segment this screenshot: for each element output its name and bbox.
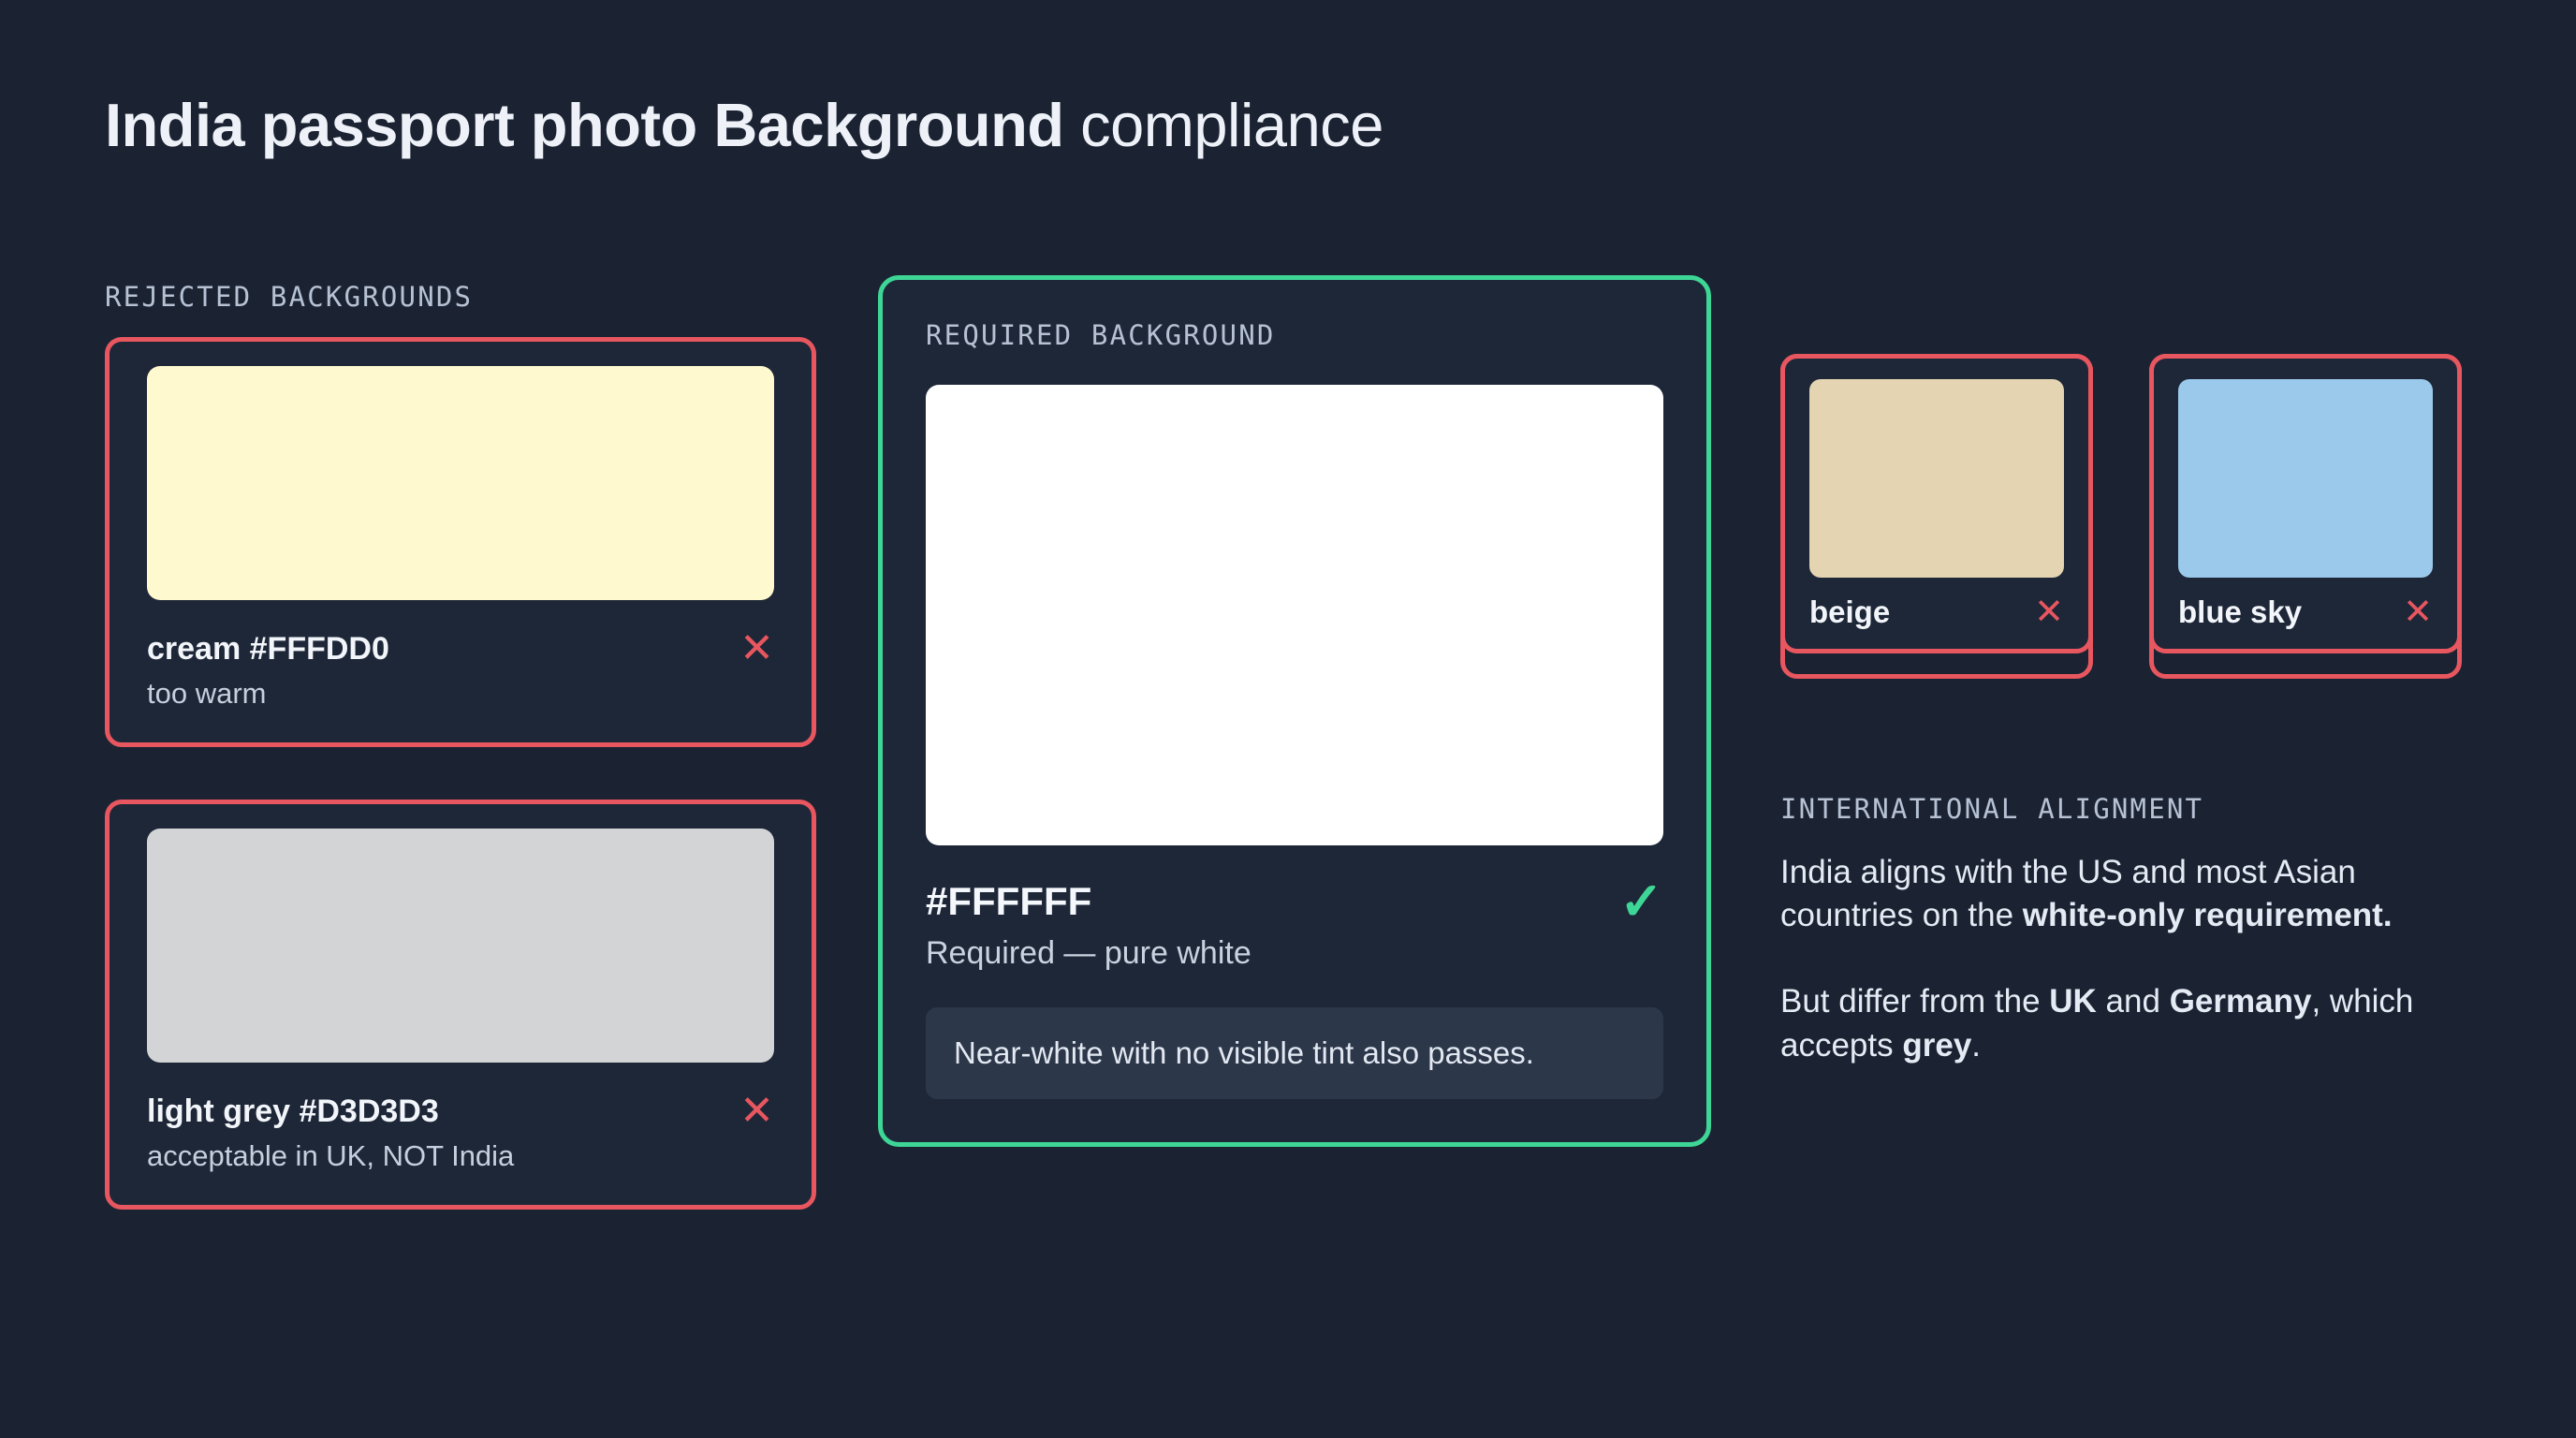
- required-subtitle: Required — pure white: [926, 935, 1663, 972]
- rejected-card-light-grey-name: light grey #D3D3D3: [147, 1093, 439, 1130]
- international-alignment-heading: INTERNATIONAL ALIGNMENT: [1780, 793, 2492, 825]
- page-title: India passport photo Background complian…: [105, 90, 1383, 160]
- rejected-card-cream-row: cream #FFFDD0 ✕: [147, 628, 774, 669]
- intl-p2-mid1: and: [2097, 983, 2170, 1020]
- color-swatch-white: [926, 385, 1663, 845]
- page-title-light: compliance: [1064, 91, 1383, 159]
- intl-p2-tail: .: [1971, 1027, 1981, 1064]
- color-swatch-blue-sky: [2178, 379, 2433, 578]
- check-icon: ✓: [1619, 875, 1663, 928]
- rejected-card-light-grey-row: light grey #D3D3D3 ✕: [147, 1091, 774, 1132]
- cross-icon: ✕: [739, 628, 774, 669]
- required-background-row: #FFFFFF ✓: [926, 875, 1663, 928]
- color-swatch-light-grey: [147, 829, 774, 1063]
- international-paragraph-2: But differ from the UK and Germany, whic…: [1780, 980, 2436, 1066]
- intl-p2-bold-grey: grey: [1902, 1027, 1971, 1064]
- cross-icon: ✕: [2034, 594, 2064, 630]
- color-swatch-cream: [147, 366, 774, 600]
- required-background-card[interactable]: REQUIRED BACKGROUND #FFFFFF ✓ Required —…: [878, 275, 1711, 1147]
- mini-rejected-card-beige[interactable]: beige ✕: [1780, 354, 2093, 653]
- rejected-backgrounds-heading: REJECTED BACKGROUNDS: [105, 281, 816, 313]
- mini-rejected-wrapper-beige: beige ✕: [1780, 354, 2093, 679]
- mini-rejected-card-blue-sky-row: blue sky ✕: [2178, 594, 2433, 630]
- right-column: beige ✕ blue sky ✕ INTERNATIONAL ALIGNME…: [1780, 354, 2492, 1067]
- rejected-card-cream[interactable]: cream #FFFDD0 ✕ too warm: [105, 337, 816, 747]
- intl-p2-bold-germany: Germany: [2170, 983, 2312, 1020]
- mini-rejected-card-blue-sky-name: blue sky: [2178, 594, 2302, 630]
- mini-rejected-row: beige ✕ blue sky ✕: [1780, 354, 2492, 679]
- cross-icon: ✕: [2403, 594, 2433, 630]
- intl-p1-bold: white-only requirement.: [2023, 897, 2393, 933]
- required-note-box: Near-white with no visible tint also pas…: [926, 1007, 1663, 1099]
- rejected-card-cream-note: too warm: [147, 677, 774, 711]
- mini-rejected-card-beige-name: beige: [1809, 594, 1890, 630]
- intl-p2-lead: But differ from the: [1780, 983, 2049, 1020]
- required-hex-value: #FFFFFF: [926, 879, 1091, 924]
- mini-rejected-card-blue-sky[interactable]: blue sky ✕: [2149, 354, 2462, 653]
- international-alignment-block: INTERNATIONAL ALIGNMENT India aligns wit…: [1780, 793, 2492, 1067]
- mini-rejected-wrapper-blue-sky: blue sky ✕: [2149, 354, 2462, 679]
- rejected-card-light-grey-note: acceptable in UK, NOT India: [147, 1139, 774, 1173]
- cross-icon: ✕: [739, 1091, 774, 1132]
- rejected-card-cream-name: cream #FFFDD0: [147, 631, 389, 668]
- rejected-card-light-grey[interactable]: light grey #D3D3D3 ✕ acceptable in UK, N…: [105, 800, 816, 1210]
- rejected-backgrounds-column: REJECTED BACKGROUNDS cream #FFFDD0 ✕ too…: [105, 281, 816, 1262]
- intl-p2-bold-uk: UK: [2049, 983, 2097, 1020]
- mini-rejected-card-beige-row: beige ✕: [1809, 594, 2064, 630]
- color-swatch-beige: [1809, 379, 2064, 578]
- required-background-heading: REQUIRED BACKGROUND: [926, 319, 1663, 351]
- international-paragraph-1: India aligns with the US and most Asian …: [1780, 851, 2436, 937]
- page-title-strong: India passport photo Background: [105, 91, 1064, 159]
